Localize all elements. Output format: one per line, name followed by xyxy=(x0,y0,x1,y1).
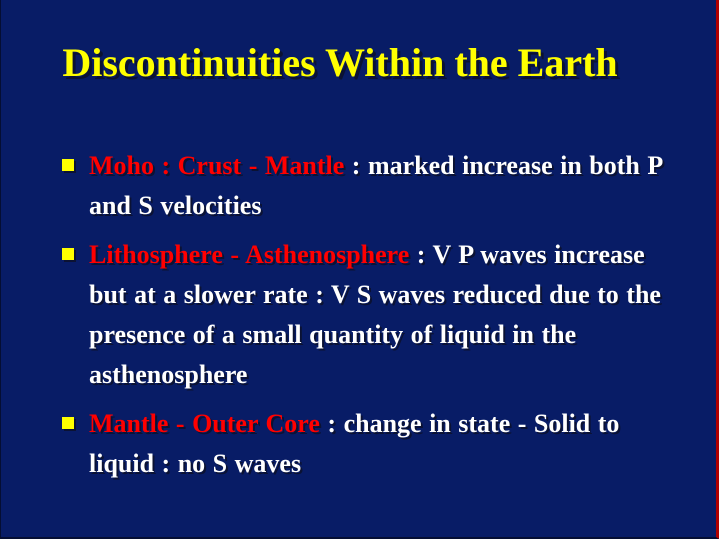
list-item-highlight: Mantle - Outer Core xyxy=(89,409,320,438)
list-item-highlight: Moho : Crust - Mantle xyxy=(89,151,344,180)
presentation-slide: Discontinuities Within the Earth Moho : … xyxy=(0,0,719,539)
list-item-highlight: Lithosphere - Asthenosphere xyxy=(89,240,409,269)
square-bullet-icon xyxy=(62,417,74,429)
page-title: Discontinuities Within the Earth xyxy=(1,40,679,86)
list-item-text: Moho : Crust - Mantle : marked increase … xyxy=(89,151,662,220)
list-item: Moho : Crust - Mantle : marked increase … xyxy=(59,146,671,226)
list-item-text: Lithosphere - Asthenosphere : V P waves … xyxy=(89,240,661,389)
list-item-text: Mantle - Outer Core : change in state - … xyxy=(89,409,619,478)
list-item: Lithosphere - Asthenosphere : V P waves … xyxy=(59,235,671,395)
square-bullet-icon xyxy=(62,159,74,171)
bullet-list: Moho : Crust - Mantle : marked increase … xyxy=(59,146,671,493)
list-item: Mantle - Outer Core : change in state - … xyxy=(59,404,671,484)
square-bullet-icon xyxy=(62,248,74,260)
